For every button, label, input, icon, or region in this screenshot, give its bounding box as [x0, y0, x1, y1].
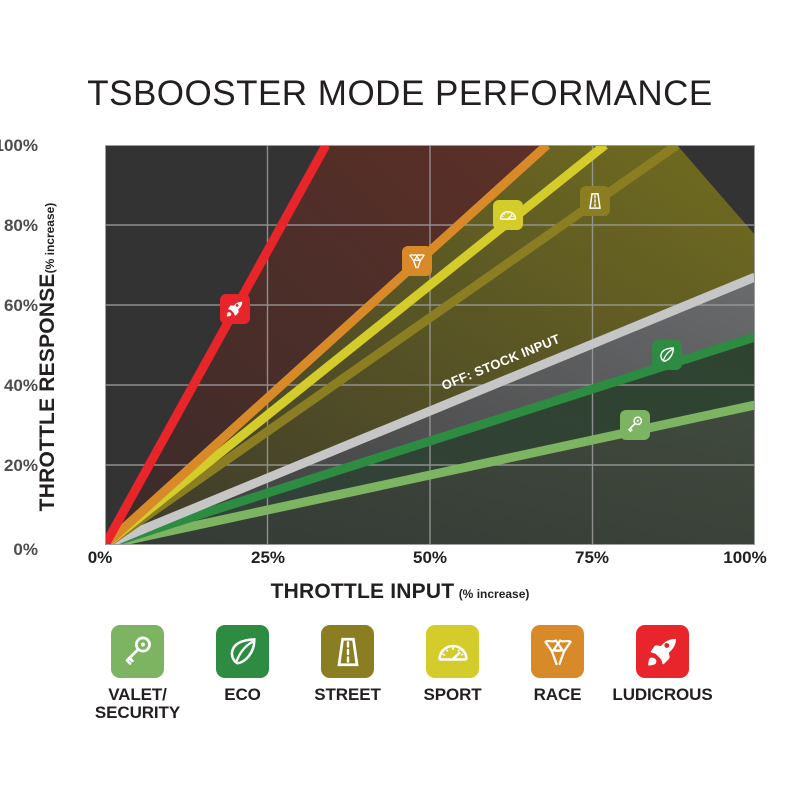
key-icon: [625, 415, 645, 435]
x-tick-100: 100%: [723, 548, 766, 568]
speedometer-icon: [498, 205, 518, 225]
y-tick-100: 100%: [0, 136, 38, 156]
legend: VALET/ SECURITY ECO: [0, 625, 800, 722]
legend-item-sport[interactable]: SPORT: [400, 625, 505, 704]
y-tick-80: 80%: [4, 216, 38, 236]
legend-swatch-eco: [216, 625, 269, 678]
flags-icon: [407, 251, 427, 271]
legend-swatch-sport: [426, 625, 479, 678]
x-axis-title-main: THROTTLE INPUT: [271, 580, 455, 603]
plot-area: OFF: STOCK INPUT: [105, 145, 755, 545]
badge-ludicrous[interactable]: [220, 294, 250, 324]
y-axis-title: THROTTLE RESPONSE(% increase): [36, 157, 60, 557]
key-icon: [120, 634, 156, 670]
legend-label: RACE: [534, 686, 582, 704]
badge-race[interactable]: [402, 246, 432, 276]
legend-label: ECO: [224, 686, 261, 704]
rocket-icon: [645, 634, 681, 670]
y-tick-60: 60%: [4, 296, 38, 316]
speedometer-icon: [435, 634, 471, 670]
badge-valet-security[interactable]: [620, 410, 650, 440]
legend-swatch-race: [531, 625, 584, 678]
x-tick-75: 75%: [575, 548, 609, 568]
y-tick-20: 20%: [4, 456, 38, 476]
x-axis-title-sub: (% increase): [459, 587, 530, 601]
legend-swatch-valet: [111, 625, 164, 678]
legend-label: SPORT: [423, 686, 481, 704]
chart-page: TSBOOSTER MODE PERFORMANCE: [0, 0, 800, 800]
page-title: TSBOOSTER MODE PERFORMANCE: [0, 74, 800, 114]
legend-item-race[interactable]: RACE: [505, 625, 610, 704]
legend-item-eco[interactable]: ECO: [190, 625, 295, 704]
legend-swatch-ludicrous: [636, 625, 689, 678]
leaf-icon: [225, 634, 261, 670]
y-tick-40: 40%: [4, 376, 38, 396]
legend-label: VALET/ SECURITY: [95, 686, 180, 722]
badge-street[interactable]: [580, 186, 610, 216]
legend-item-valet-security[interactable]: VALET/ SECURITY: [85, 625, 190, 722]
y-tick-0: 0%: [13, 540, 38, 560]
badge-eco[interactable]: [652, 340, 682, 370]
road-icon: [330, 634, 366, 670]
rocket-icon: [225, 299, 245, 319]
x-tick-0: 0%: [88, 548, 113, 568]
legend-swatch-street: [321, 625, 374, 678]
legend-label: STREET: [314, 686, 380, 704]
y-axis-title-main: THROTTLE RESPONSE: [36, 273, 59, 511]
leaf-icon: [657, 345, 677, 365]
y-axis-title-sub: (% increase): [43, 203, 57, 274]
x-tick-50: 50%: [413, 548, 447, 568]
road-icon: [585, 191, 605, 211]
legend-item-ludicrous[interactable]: LUDICROUS: [610, 625, 715, 704]
legend-label: LUDICROUS: [612, 686, 712, 704]
legend-item-street[interactable]: STREET: [295, 625, 400, 704]
badge-sport[interactable]: [493, 200, 523, 230]
x-tick-25: 25%: [251, 548, 285, 568]
x-axis-title: THROTTLE INPUT (% increase): [0, 580, 800, 604]
flags-icon: [540, 634, 576, 670]
